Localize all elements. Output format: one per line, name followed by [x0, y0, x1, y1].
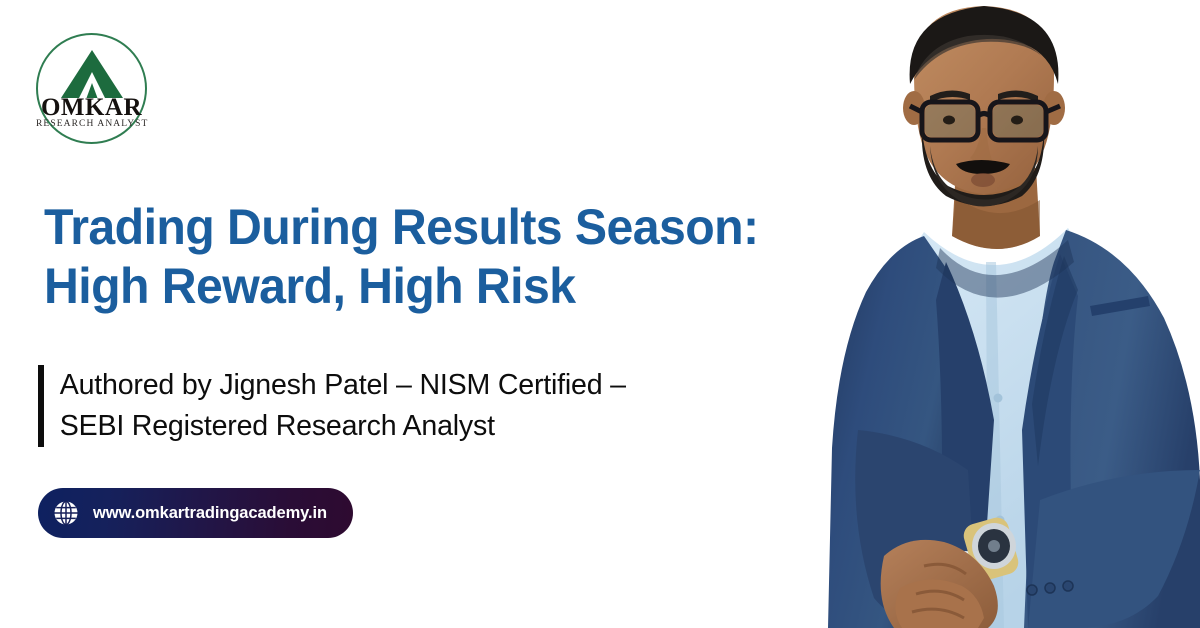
globe-icon [53, 500, 79, 526]
mountain-peak-icon [61, 50, 123, 98]
promo-banner: OMKAR RESEARCH ANALYST Trading During Re… [0, 0, 1200, 628]
website-url-text: www.omkartradingacademy.in [93, 504, 327, 523]
page-title: Trading During Results Season: High Rewa… [44, 198, 855, 316]
logo-tagline: RESEARCH ANALYST [36, 120, 147, 130]
author-byline-text: Authored by Jignesh Patel – NISM Certifi… [44, 365, 626, 447]
brand-logo[interactable]: OMKAR RESEARCH ANALYST [36, 33, 147, 144]
author-byline: Authored by Jignesh Patel – NISM Certifi… [38, 365, 798, 447]
portrait-photo [828, 0, 1200, 628]
website-link-badge[interactable]: www.omkartradingacademy.in [38, 488, 353, 538]
logo-wordmark: OMKAR [36, 95, 147, 120]
